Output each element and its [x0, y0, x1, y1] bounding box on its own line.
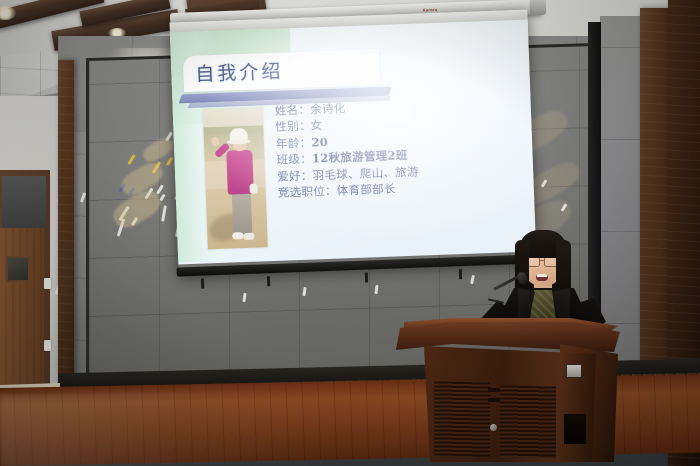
- podium-vent-grille: [434, 381, 490, 456]
- eyeglasses-bridge: [539, 260, 545, 261]
- podium-latch-icon: [488, 388, 500, 392]
- screen-hook: [201, 279, 204, 289]
- wood-column-left: [58, 60, 74, 394]
- info-value: 女: [311, 119, 323, 133]
- info-value: 羽毛球、爬山、旅游: [312, 164, 419, 182]
- podium-latch-icon: [488, 398, 500, 402]
- speaker-teeth: [537, 274, 547, 277]
- info-value: 12秋旅游管理2班: [312, 148, 408, 165]
- presentation-scene-photo: Aurora 自我介绍: [0, 0, 700, 466]
- info-value: 体育部部长: [337, 182, 396, 198]
- info-value: 余诗化: [310, 101, 346, 116]
- projection-screen: 自我介绍 姓名：余诗化: [170, 10, 537, 275]
- podium-vent-grille: [500, 385, 556, 458]
- slide-canvas: 自我介绍 姓名：余诗化: [170, 20, 536, 265]
- roller-end-cap: [530, 0, 547, 15]
- slide-portrait-photo: [203, 107, 268, 249]
- screen-hook: [459, 269, 462, 279]
- info-key: 竞选职位：: [278, 184, 337, 200]
- slide-title: 自我介绍: [195, 57, 284, 87]
- podium-cable-cutout: [564, 414, 586, 444]
- door-transom-glass: [2, 176, 46, 228]
- door-viewport-icon: [6, 256, 30, 282]
- photo-person-legs: [232, 192, 253, 235]
- photo-person-glove: [249, 184, 257, 194]
- door-left[interactable]: [0, 228, 44, 386]
- info-key: 爱好：: [277, 168, 313, 183]
- photo-person-shoe: [243, 233, 254, 240]
- photo-person-shoe: [232, 232, 243, 239]
- info-key: 班级：: [276, 152, 312, 167]
- info-key: 姓名：: [275, 103, 311, 118]
- info-value: 20: [311, 135, 328, 150]
- wall-outlet-icon: [44, 340, 51, 351]
- slide-info-list: 姓名：余诗化 性别：女 年龄：20 班级：12秋旅游管理2班 爱好：羽毛球、爬山…: [275, 94, 510, 201]
- screen-hook: [365, 273, 368, 283]
- screen-hook: [267, 276, 270, 286]
- wall-outlet-icon: [44, 278, 51, 289]
- podium-lock-icon: [490, 424, 497, 431]
- info-key: 性别：: [275, 119, 311, 134]
- podium-control-panel[interactable]: [566, 364, 582, 378]
- info-key: 年龄：: [276, 135, 312, 150]
- floor-reflection: [0, 389, 330, 466]
